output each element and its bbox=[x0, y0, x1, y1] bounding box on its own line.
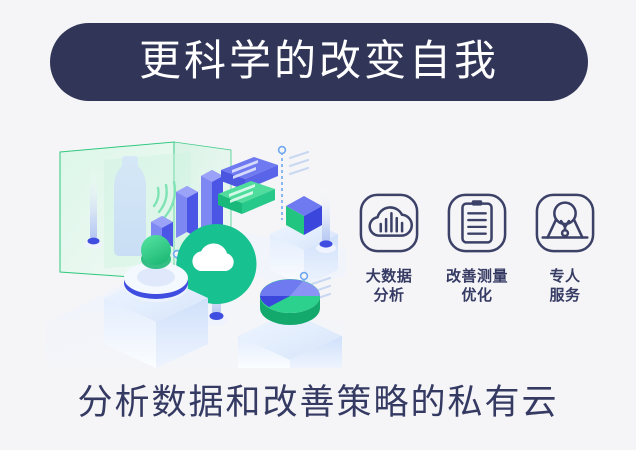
feature-label-line2: 分析 bbox=[373, 287, 404, 304]
feature-label-dedicated-service: 专人 服务 bbox=[527, 267, 603, 305]
hero-illustration bbox=[46, 128, 346, 368]
feature-label-line2: 优化 bbox=[461, 287, 492, 304]
feature-item-dedicated-service[interactable]: 专人 服务 bbox=[528, 192, 602, 305]
feature-label-line2: 服务 bbox=[549, 287, 580, 304]
feature-list: 大数据 分析 改善测量 优化 bbox=[352, 192, 602, 324]
feature-item-big-data-analysis[interactable]: 大数据 分析 bbox=[352, 192, 426, 305]
tagline: 分析数据和改善策略的私有云 bbox=[0, 382, 636, 424]
clipboard-icon bbox=[446, 192, 508, 254]
feature-item-measurement-optimization[interactable]: 改善测量 优化 bbox=[440, 192, 514, 305]
cloud-bar-chart-icon bbox=[358, 192, 420, 254]
poster-root: 更科学的改变自我 bbox=[0, 0, 636, 450]
feature-label-big-data-analysis: 大数据 分析 bbox=[351, 267, 427, 305]
feature-label-line1: 大数据 bbox=[366, 268, 413, 285]
feature-label-line1: 改善测量 bbox=[446, 268, 508, 285]
bottle-silhouette bbox=[114, 156, 146, 256]
page-title: 更科学的改变自我 bbox=[139, 40, 499, 82]
service-agent-icon bbox=[534, 192, 596, 254]
feature-label-line1: 专人 bbox=[549, 268, 580, 285]
header-banner: 更科学的改变自我 bbox=[50, 23, 588, 101]
pie-chart-3d bbox=[260, 279, 320, 325]
feature-label-measurement-optimization: 改善测量 优化 bbox=[439, 267, 515, 305]
